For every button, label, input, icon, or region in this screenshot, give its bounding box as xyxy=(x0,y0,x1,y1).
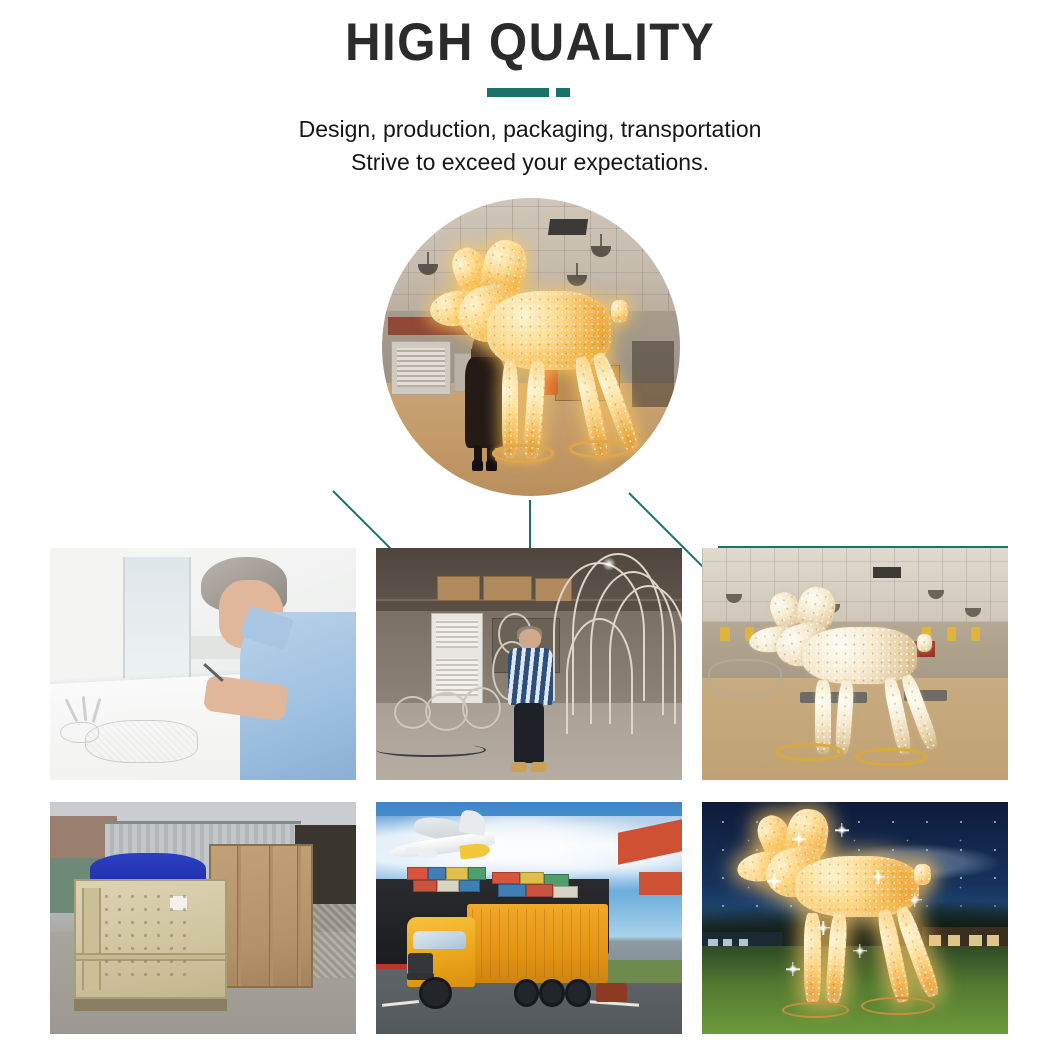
moose-tail xyxy=(611,300,628,323)
plane-nose xyxy=(460,842,492,860)
shipping-container xyxy=(520,872,544,885)
gallery-item-production xyxy=(376,548,682,780)
light-sparkle-icon xyxy=(855,946,865,956)
shipping-container xyxy=(437,880,458,893)
moose-tail xyxy=(914,864,931,884)
sketch-antler xyxy=(92,698,102,723)
title-divider xyxy=(487,88,573,97)
plane-engine xyxy=(418,850,437,857)
subtitle-line-1: Design, production, packaging, transport… xyxy=(0,113,1060,146)
subtitle-block: Design, production, packaging, transport… xyxy=(0,113,1060,179)
worker-pants xyxy=(514,703,544,763)
gallery-item-packaging xyxy=(50,802,356,1034)
gallery-item-design xyxy=(50,548,356,780)
truck-cab xyxy=(407,917,476,987)
crate-batten xyxy=(269,846,273,986)
installed-moose-sculpture xyxy=(733,811,972,1015)
steel-arc xyxy=(566,618,633,734)
front-wooden-crate xyxy=(74,879,227,1000)
ceiling-vent xyxy=(873,567,901,579)
light-sparkle-icon xyxy=(788,964,798,974)
header: HIGH QUALITY Design, production, packagi… xyxy=(0,0,1060,179)
cargo-plane xyxy=(388,814,504,870)
cardboard-box xyxy=(437,576,480,602)
wire-frame-section xyxy=(462,687,502,729)
moose-light-sculpture xyxy=(421,240,659,472)
ceiling-vent xyxy=(548,219,588,235)
truck-wheel xyxy=(565,979,591,1007)
cardboard-box xyxy=(483,576,532,602)
finished-moose-sculpture xyxy=(745,585,965,761)
window xyxy=(123,557,190,678)
subtitle-line-2: Strive to exceed your expectations. xyxy=(0,146,1060,179)
shipping-container xyxy=(492,872,520,885)
factory-worker xyxy=(508,629,554,773)
shipping-container xyxy=(498,884,526,897)
worker-shoe xyxy=(531,762,547,772)
light-sparkle-icon xyxy=(873,872,883,882)
infographic-page: HIGH QUALITY Design, production, packagi… xyxy=(0,0,1060,1040)
truck-grille xyxy=(408,953,433,974)
light-sparkle-icon xyxy=(794,834,804,844)
shipping-container xyxy=(553,886,577,899)
worker-head xyxy=(519,629,541,649)
gallery-item-transportation xyxy=(376,802,682,1034)
gallery-item-finished xyxy=(702,548,1008,780)
connector-lines xyxy=(0,440,1060,555)
page-title: HIGH QUALITY xyxy=(37,12,1023,74)
sketch-antler xyxy=(81,696,87,721)
moose-body xyxy=(802,627,917,683)
divider-bar-short xyxy=(556,88,570,97)
weld-spark-icon xyxy=(602,557,616,571)
crate-batten xyxy=(297,846,301,986)
light-sparkle-icon xyxy=(837,825,847,835)
moose-base-ring xyxy=(782,1002,849,1018)
truck-trailer xyxy=(467,904,608,983)
truck-windshield xyxy=(413,931,465,949)
scrap-pile xyxy=(313,904,356,978)
truck-wheel xyxy=(419,977,451,1009)
hanging-lantern xyxy=(720,627,729,641)
hanging-lantern xyxy=(971,627,980,641)
shipping-label xyxy=(169,895,188,911)
light-sparkle-icon xyxy=(769,876,779,886)
shipping-container xyxy=(413,880,437,893)
port-crane xyxy=(639,872,682,895)
worker-shoe xyxy=(511,762,527,772)
moose-leg xyxy=(835,680,856,755)
divider-bar-long xyxy=(487,88,549,97)
shipping-container xyxy=(526,884,554,897)
designer xyxy=(191,553,356,780)
crate-pallet xyxy=(74,999,227,1011)
truck-wheel xyxy=(514,979,540,1007)
moose-tail xyxy=(917,634,932,652)
room-background xyxy=(50,548,130,692)
connector-line-center xyxy=(529,500,531,548)
sketch-antler xyxy=(65,699,79,723)
light-sparkle-icon xyxy=(818,923,828,933)
crate-rail xyxy=(76,953,225,961)
light-sparkle-icon xyxy=(910,895,920,905)
process-image-grid xyxy=(50,548,1008,1034)
truck-wheel xyxy=(539,979,565,1007)
gallery-item-installation xyxy=(702,802,1008,1034)
crate-batten xyxy=(237,846,241,986)
shipping-container xyxy=(459,880,480,893)
sketch-body xyxy=(85,720,199,763)
moose-base-ring xyxy=(855,748,928,767)
air-hose xyxy=(376,743,486,757)
worker-striped-shirt xyxy=(508,648,552,706)
cargo-truck xyxy=(407,904,621,1011)
